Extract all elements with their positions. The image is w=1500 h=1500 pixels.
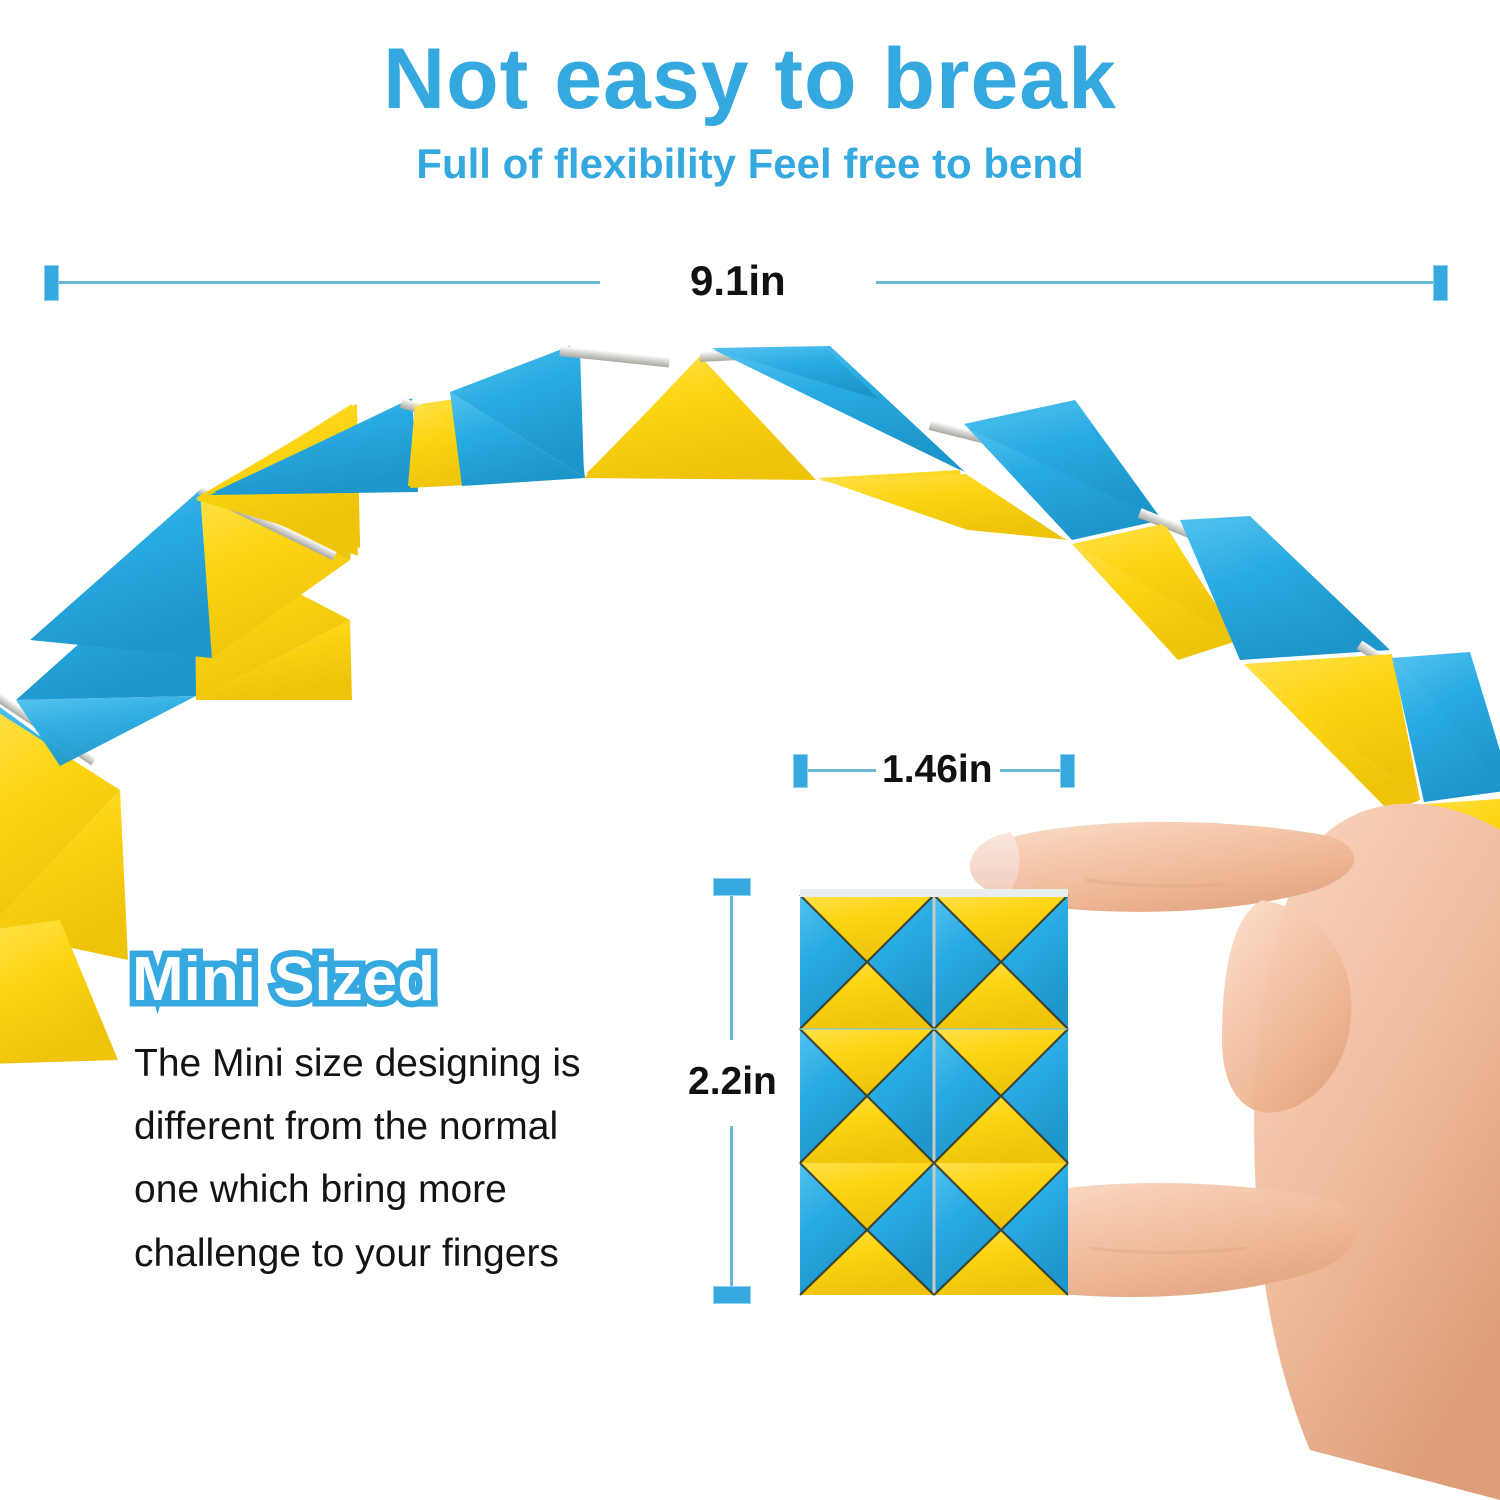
page-subheadline: Full of flexibility Feel free to bend [0, 140, 1500, 188]
dimension-cap-left [44, 265, 59, 301]
page-headline: Not easy to break [0, 36, 1500, 122]
mini-sized-badge: Mini Sized [132, 944, 435, 1015]
folded-puzzle-block [800, 889, 1068, 1295]
block-height-label: 2.2in [688, 1060, 777, 1104]
block-height-cap-top [713, 878, 751, 896]
block-width-cap-right [1060, 754, 1075, 788]
block-width-line-right [1000, 769, 1060, 772]
overall-length-label: 9.1in [690, 257, 786, 305]
block-height-line-top [730, 896, 733, 1040]
arch-segment-group-right-arm [818, 400, 1240, 660]
dimension-line-left-segment [59, 281, 600, 284]
block-width-line-left [808, 769, 876, 772]
block-height-cap-bottom [713, 1286, 751, 1304]
description-line-1: The Mini size designing is [134, 1032, 654, 1095]
mini-sized-description: The Mini size designing is different fro… [134, 1032, 654, 1285]
dimension-line-right-segment [876, 281, 1433, 284]
block-width-cap-left [793, 754, 808, 788]
description-line-3: one which bring more [134, 1158, 654, 1221]
arch-segment-group-apex [450, 346, 965, 486]
description-line-4: challenge to your fingers [134, 1222, 654, 1285]
block-height-line-bottom [730, 1126, 733, 1286]
dimension-cap-right [1433, 265, 1448, 301]
block-width-label: 1.46in [882, 748, 993, 792]
description-line-2: different from the normal [134, 1095, 654, 1158]
